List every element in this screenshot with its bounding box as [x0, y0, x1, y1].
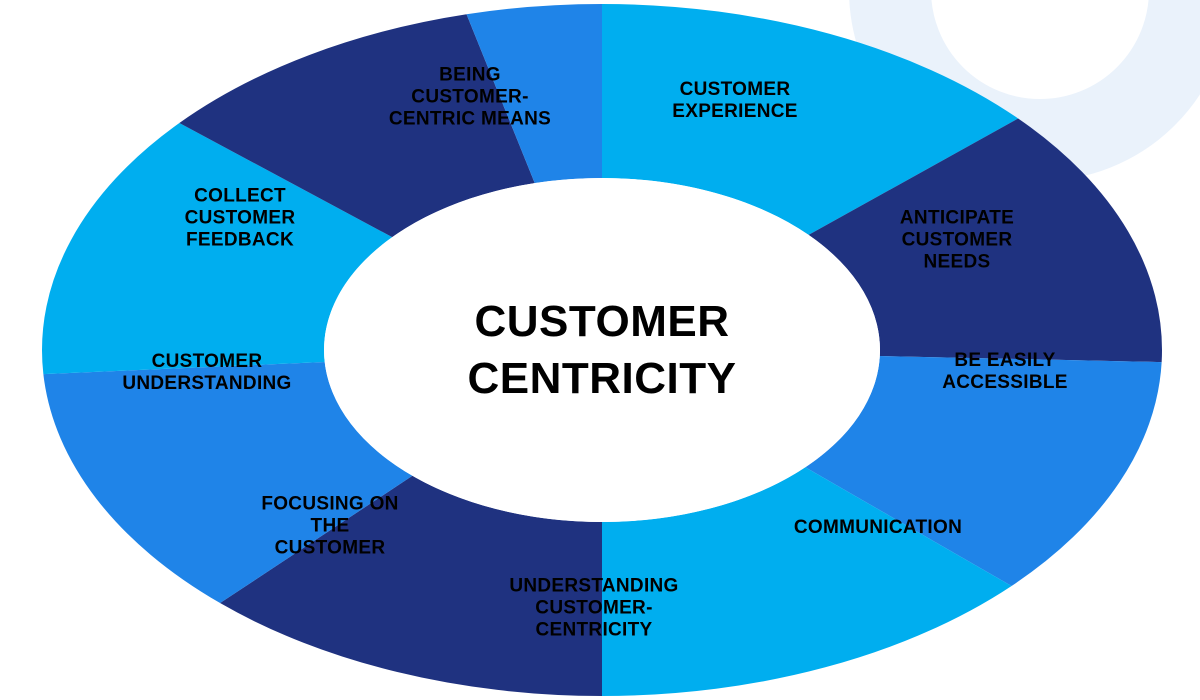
- segment-label-being-customer-centric-means: BEING CUSTOMER- CENTRIC MEANS: [389, 65, 551, 132]
- segment-label-anticipate-customer-needs: ANTICIPATE CUSTOMER NEEDS: [900, 208, 1014, 275]
- diagram-canvas: CUSTOMER EXPERIENCEANTICIPATE CUSTOMER N…: [0, 0, 1200, 700]
- center-title: CUSTOMER CENTRICITY: [352, 293, 852, 407]
- segment-label-understanding-customer-centricity: UNDERSTANDING CUSTOMER- CENTRICITY: [509, 576, 678, 643]
- segment-label-customer-understanding: CUSTOMER UNDERSTANDING: [122, 351, 291, 395]
- segment-label-communication: COMMUNICATION: [794, 517, 962, 539]
- segment-label-be-easily-accessible: BE EASILY ACCESSIBLE: [942, 350, 1067, 394]
- segment-label-customer-experience: CUSTOMER EXPERIENCE: [672, 79, 797, 123]
- segment-label-focusing-on-the-customer: FOCUSING ON THE CUSTOMER: [261, 494, 398, 561]
- segment-label-collect-customer-feedback: COLLECT CUSTOMER FEEDBACK: [185, 186, 296, 253]
